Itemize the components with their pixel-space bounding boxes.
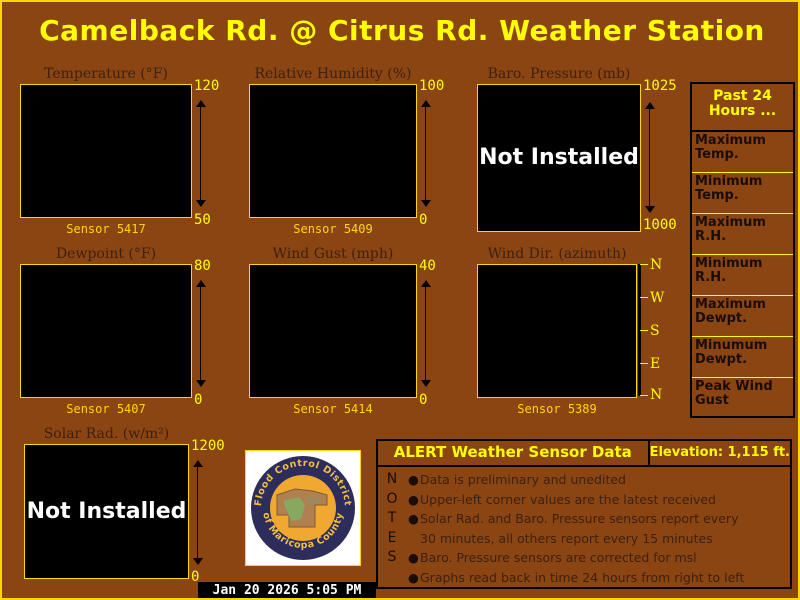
row-label-line2: Dewpt. xyxy=(695,353,793,367)
panel-title: Solar Rad. (w/m²) xyxy=(24,426,189,442)
agency-logo[interactable]: Flood Control District of Maricopa Count… xyxy=(245,450,361,566)
axis-max-label: 1200 xyxy=(191,438,225,454)
sensor-label: Sensor 5417 xyxy=(20,222,192,236)
row-label-line1: Maximum xyxy=(695,216,793,230)
table-row[interactable]: Minumum Dewpt. xyxy=(692,337,793,378)
axis-arrow-down-icon xyxy=(193,558,203,565)
row-label-line2: R.H. xyxy=(695,271,793,285)
axis-tick xyxy=(640,395,648,396)
axis-max-label: 1025 xyxy=(643,78,677,94)
axis-solar-radiation: 1200 0 xyxy=(191,438,239,580)
note-continuation: 30 minutes, all others report every 15 m… xyxy=(408,529,790,549)
row-label-line2: Temp. xyxy=(695,148,793,162)
notes-list: ●Data is preliminary and unedited ●Upper… xyxy=(406,470,790,588)
note-text: Graphs read back in time 24 hours from r… xyxy=(420,570,744,585)
axis-tick xyxy=(640,264,648,265)
row-label-line1: Minimum xyxy=(695,257,793,271)
axis-arrow-up-icon xyxy=(196,280,206,287)
bullet-icon: ● xyxy=(408,568,420,588)
row-label-line1: Maximum xyxy=(695,298,793,312)
logo-ring: Flood Control District of Maricopa Count… xyxy=(251,456,355,560)
notes-panel: ALERT Weather Sensor Data Elevation: 1,1… xyxy=(376,439,792,589)
axis-baro-pressure: 1025 1000 xyxy=(643,78,691,228)
axis-arrow-up-icon xyxy=(421,100,431,107)
graph-plot-area[interactable] xyxy=(477,264,637,398)
elevation-label: Elevation: 1,115 ft. xyxy=(650,441,790,465)
weather-station-page: Camelback Rd. @ Citrus Rd. Weather Stati… xyxy=(0,0,800,600)
axis-line xyxy=(425,284,426,384)
alert-title: ALERT Weather Sensor Data xyxy=(378,441,650,465)
axis-relative-humidity: 100 0 xyxy=(419,78,459,218)
row-label-line1: Peak Wind xyxy=(695,380,793,394)
axis-tick xyxy=(640,363,648,364)
table-row[interactable]: Minimum R.H. xyxy=(692,255,793,296)
axis-min-label: 0 xyxy=(194,392,202,408)
list-item: ●Graphs read back in time 24 hours from … xyxy=(408,568,790,588)
list-item: ●Baro. Pressure sensors are corrected fo… xyxy=(408,548,790,568)
notes-letter: T xyxy=(378,509,406,529)
not-installed-message: Not Installed xyxy=(25,445,188,578)
axis-direction-label: N xyxy=(650,258,662,272)
axis-dewpoint: 80 0 xyxy=(194,258,234,398)
axis-min-label: 1000 xyxy=(643,217,677,233)
axis-min-label: 0 xyxy=(419,212,427,228)
list-item: ●Upper-left corner values are the latest… xyxy=(408,490,790,510)
axis-temperature: 120 50 xyxy=(194,78,234,218)
notes-vertical-word: N O T E S xyxy=(378,470,406,588)
axis-max-label: 80 xyxy=(194,258,211,274)
axis-tick xyxy=(640,330,648,331)
not-installed-message: Not Installed xyxy=(478,85,640,231)
axis-direction-label: W xyxy=(650,291,664,305)
axis-arrow-up-icon xyxy=(645,102,655,109)
table-row[interactable]: Maximum Dewpt. xyxy=(692,296,793,337)
axis-arrow-up-icon xyxy=(193,460,203,467)
note-text: Data is preliminary and unedited xyxy=(420,472,626,487)
axis-wind-gust: 40 0 xyxy=(419,258,459,398)
notes-letter: N xyxy=(378,470,406,490)
axis-arrow-down-icon xyxy=(645,206,655,213)
axis-max-label: 40 xyxy=(419,258,436,274)
axis-arrow-down-icon xyxy=(421,380,431,387)
axis-min-label: 0 xyxy=(419,392,427,408)
notes-letter: S xyxy=(378,548,406,568)
sensor-label: Sensor 5407 xyxy=(20,402,192,416)
note-text: Upper-left corner values are the latest … xyxy=(420,492,716,507)
page-title: Camelback Rd. @ Citrus Rd. Weather Stati… xyxy=(2,14,800,47)
panel-title: Dewpoint (°F) xyxy=(20,246,192,262)
row-label-line1: Maximum xyxy=(695,134,793,148)
bullet-icon: ● xyxy=(408,509,420,529)
panel-title: Baro. Pressure (mb) xyxy=(477,66,641,82)
past-24-hours-header: Past 24 Hours ... xyxy=(692,84,793,132)
axis-direction-label: N xyxy=(650,388,662,402)
sensor-label: Sensor 5409 xyxy=(249,222,417,236)
note-text: Solar Rad. and Baro. Pressure sensors re… xyxy=(420,511,738,526)
graph-plot-area[interactable] xyxy=(249,264,417,398)
axis-direction-label: E xyxy=(650,357,660,371)
bullet-icon: ● xyxy=(408,490,420,510)
row-label-line2: Temp. xyxy=(695,189,793,203)
row-label-line2: Dewpt. xyxy=(695,312,793,326)
notes-body: N O T E S ●Data is preliminary and unedi… xyxy=(378,467,790,588)
graph-plot-area[interactable] xyxy=(20,84,192,218)
panel-title: Temperature (°F) xyxy=(20,66,192,82)
graph-plot-area[interactable]: Not Installed xyxy=(24,444,189,579)
note-text: Baro. Pressure sensors are corrected for… xyxy=(420,550,697,565)
axis-max-label: 120 xyxy=(194,78,219,94)
axis-line xyxy=(649,106,650,210)
list-item: ●Data is preliminary and unedited xyxy=(408,470,790,490)
panel-title: Relative Humidity (%) xyxy=(249,66,417,82)
table-row[interactable]: Minimum Temp. xyxy=(692,173,793,214)
axis-line xyxy=(197,464,198,562)
axis-arrow-down-icon xyxy=(421,200,431,207)
axis-max-label: 100 xyxy=(419,78,444,94)
logo-inner-circle xyxy=(270,475,336,541)
axis-arrow-up-icon xyxy=(196,100,206,107)
axis-arrow-down-icon xyxy=(196,200,206,207)
maricopa-county-map-icon xyxy=(275,485,331,531)
axis-arrow-up-icon xyxy=(421,280,431,287)
notes-header: ALERT Weather Sensor Data Elevation: 1,1… xyxy=(378,441,790,467)
axis-tick xyxy=(640,297,648,298)
row-label-line2: R.H. xyxy=(695,230,793,244)
table-row[interactable]: Peak Wind Gust xyxy=(692,378,793,419)
row-label-line2: Gust xyxy=(695,394,793,408)
axis-line xyxy=(200,104,201,204)
axis-line xyxy=(425,104,426,204)
sensor-label: Sensor 5389 xyxy=(477,402,637,416)
past-24-header-line1: Past 24 xyxy=(692,89,793,104)
past-24-header-line2: Hours ... xyxy=(692,104,793,119)
table-row[interactable]: Maximum R.H. xyxy=(692,214,793,255)
axis-line xyxy=(200,284,201,384)
table-row[interactable]: Maximum Temp. xyxy=(692,132,793,173)
panel-title: Wind Dir. (azimuth) xyxy=(477,246,637,262)
axis-direction-label: S xyxy=(650,324,660,338)
axis-arrow-down-icon xyxy=(196,380,206,387)
row-label-line1: Minimum xyxy=(695,175,793,189)
notes-letter: E xyxy=(378,529,406,549)
notes-letter: O xyxy=(378,490,406,510)
graph-plot-area[interactable]: Not Installed xyxy=(477,84,641,232)
list-item: ●Solar Rad. and Baro. Pressure sensors r… xyxy=(408,509,790,529)
row-label-line1: Minumum xyxy=(695,339,793,353)
graph-plot-area[interactable] xyxy=(249,84,417,218)
timestamp: Jan 20 2026 5:05 PM xyxy=(198,582,376,600)
sensor-label: Sensor 5414 xyxy=(249,402,417,416)
past-24-hours-table: Past 24 Hours ... Maximum Temp. Minimum … xyxy=(690,82,795,418)
graph-plot-area[interactable] xyxy=(20,264,192,398)
bullet-icon: ● xyxy=(408,548,420,568)
bullet-icon: ● xyxy=(408,470,420,490)
axis-wind-direction: N W S E N xyxy=(638,264,678,396)
axis-min-label: 50 xyxy=(194,212,211,228)
panel-title: Wind Gust (mph) xyxy=(249,246,417,262)
